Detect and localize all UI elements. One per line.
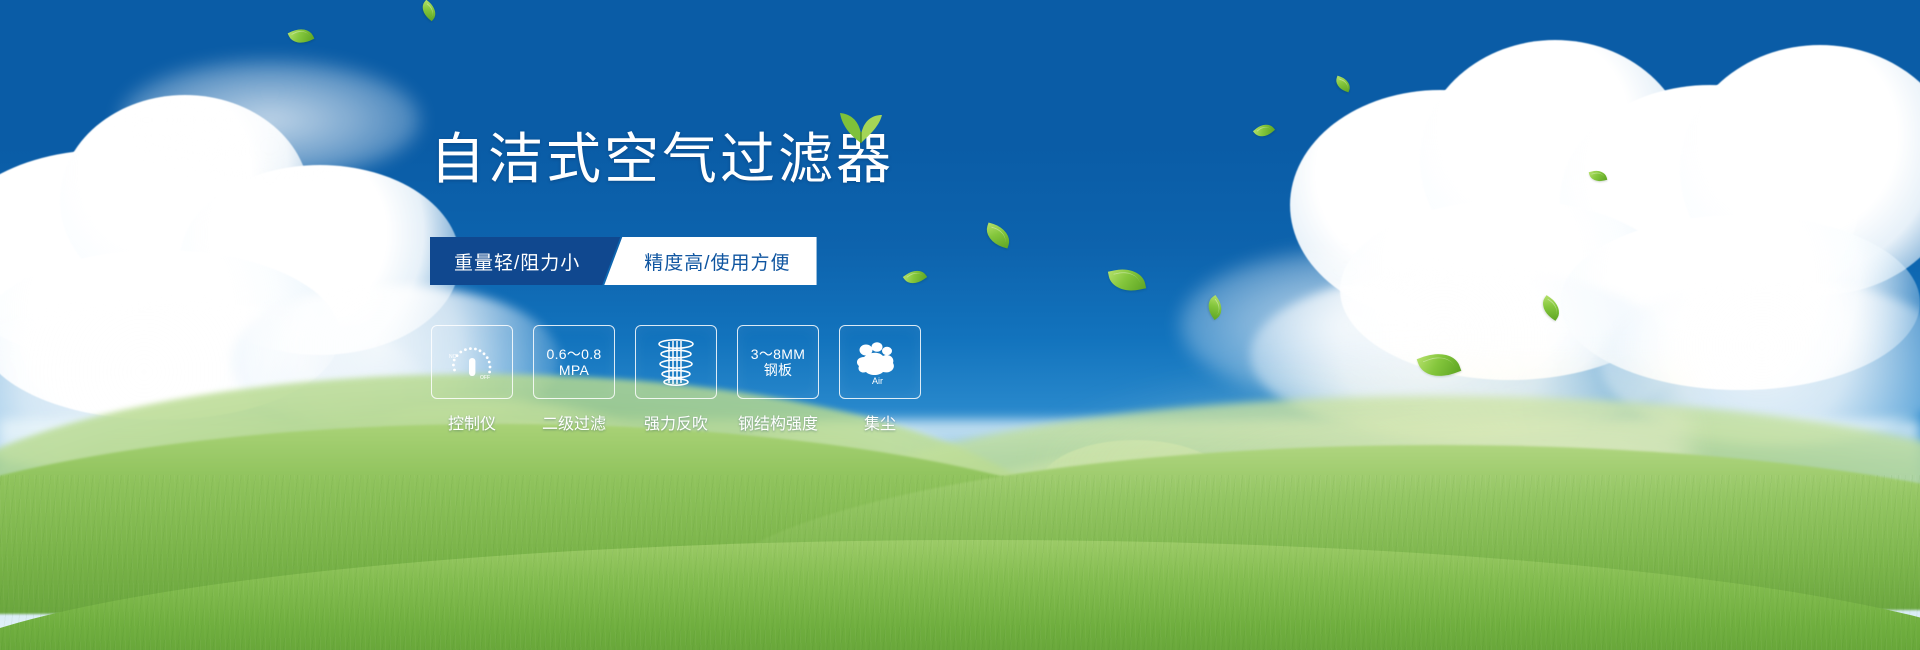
feature-label: 钢结构强度 <box>738 410 818 434</box>
feature-item-two-stage-filter[interactable]: 0.6～0.8 MPA 二级过滤 <box>534 325 614 434</box>
feature-label: 集尘 <box>864 410 896 434</box>
air-blowback-icon <box>652 336 700 388</box>
feature-item-steel-strength[interactable]: 3～8MM 钢板 钢结构强度 <box>738 325 818 434</box>
feature-item-pulse-blowback[interactable]: 强力反吹 <box>636 325 716 434</box>
feature-item-dust-collection[interactable]: Air 集尘 <box>840 325 920 434</box>
leaf-icon <box>838 110 884 144</box>
svg-text:NO: NO <box>449 354 457 360</box>
feature-icon-box: 3～8MM 钢板 <box>737 325 819 399</box>
feature-label: 控制仪 <box>448 410 496 434</box>
feature-label: 二级过滤 <box>542 410 606 434</box>
pressure-value-line1: 0.6～0.8 <box>546 346 601 362</box>
steel-thickness-line1: 3～8MM <box>751 346 805 362</box>
dust-cloud-icon: Air <box>850 337 910 387</box>
steel-thickness-line2: 钢板 <box>764 362 793 378</box>
tab-precision-convenience[interactable]: 精度高/使用方便 <box>604 237 816 285</box>
product-hero-banner: 自洁式空气过滤器 重量轻/阻力小 精度高/使用方便 <box>0 0 1920 650</box>
feature-icon-row: NO OFF 控制仪 0.6～0.8 MPA 二级过滤 <box>432 325 920 434</box>
feature-icon-box: 0.6～0.8 MPA <box>533 325 615 399</box>
air-label: Air <box>872 376 883 386</box>
feature-item-controller[interactable]: NO OFF 控制仪 <box>432 325 512 434</box>
pressure-value-line2: MPA <box>559 362 589 378</box>
feature-tabs: 重量轻/阻力小 精度高/使用方便 <box>430 237 817 285</box>
page-title: 自洁式空气过滤器 <box>430 132 894 187</box>
feature-icon-box <box>635 325 717 399</box>
gauge-meter-icon: NO OFF <box>444 338 500 386</box>
svg-text:OFF: OFF <box>480 375 490 381</box>
feature-icon-box: NO OFF <box>431 325 513 399</box>
tab-weight-resistance[interactable]: 重量轻/阻力小 <box>430 237 620 285</box>
feature-icon-box: Air <box>839 325 921 399</box>
feature-label: 强力反吹 <box>644 410 708 434</box>
banner-content: 自洁式空气过滤器 重量轻/阻力小 精度高/使用方便 <box>0 0 1920 650</box>
